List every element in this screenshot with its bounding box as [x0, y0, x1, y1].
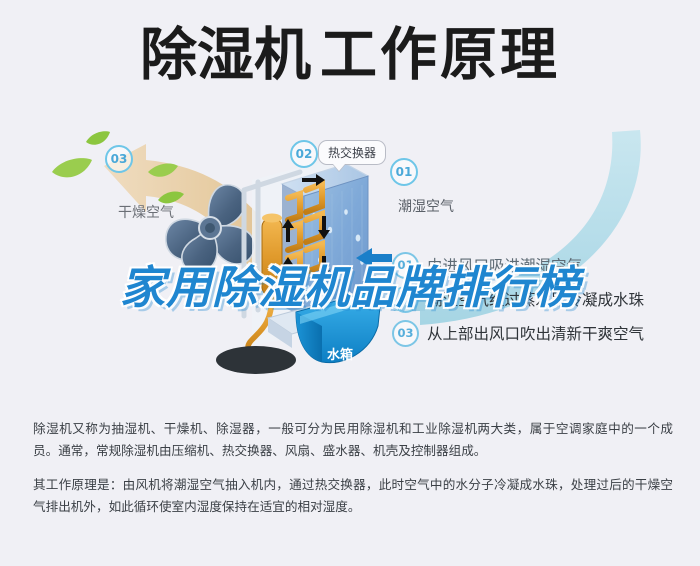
- legend-item-03: 03 从上部出风口吹出清新干爽空气: [392, 316, 692, 350]
- body-paragraph-1: 除湿机又称为抽湿机、干燥机、除湿器，一般可分为民用除湿机和工业除湿机两大类，属于…: [33, 418, 673, 461]
- legend-text-02: 潮湿空气经过蒸发器冷凝成水珠: [427, 288, 644, 310]
- legend-item-02: 02 潮湿空气经过蒸发器冷凝成水珠: [392, 282, 692, 316]
- page-title: 除湿机工作原理: [0, 24, 700, 86]
- humid-air-label: 潮湿空气: [398, 196, 454, 216]
- dry-air-label: 干燥空气: [118, 202, 174, 222]
- legend-number-02: 02: [392, 286, 419, 313]
- diagram-badge-03: 03: [105, 145, 133, 173]
- body-paragraph-2: 其工作原理是：由风机将潮湿空气抽入机内，通过热交换器，此时空气中的水分子冷凝成水…: [33, 474, 673, 517]
- legend-text-01: 由进风口吸进潮湿空气: [427, 254, 582, 276]
- title-part-2: 工作原理: [320, 22, 560, 88]
- legend-number-03: 03: [392, 320, 419, 347]
- title-part-1: 除湿机: [140, 22, 311, 88]
- legend-number-01: 01: [392, 252, 419, 279]
- legend-item-01: 01 由进风口吸进潮湿空气: [392, 248, 692, 282]
- water-tank-label: 水箱: [327, 344, 353, 363]
- legend-list: 01 由进风口吸进潮湿空气 02 潮湿空气经过蒸发器冷凝成水珠 03 从上部出风…: [392, 248, 692, 350]
- legend-text-03: 从上部出风口吹出清新干爽空气: [427, 322, 644, 344]
- diagram-badge-01: 01: [390, 158, 418, 186]
- article-body: 除湿机又称为抽湿机、干燥机、除湿器，一般可分为民用除湿机和工业除湿机两大类，属于…: [33, 418, 673, 530]
- heat-exchanger-callout: 热交换器: [318, 140, 386, 165]
- diagram-badge-02: 02: [290, 140, 318, 168]
- infographic-page: 除湿机工作原理: [0, 0, 700, 566]
